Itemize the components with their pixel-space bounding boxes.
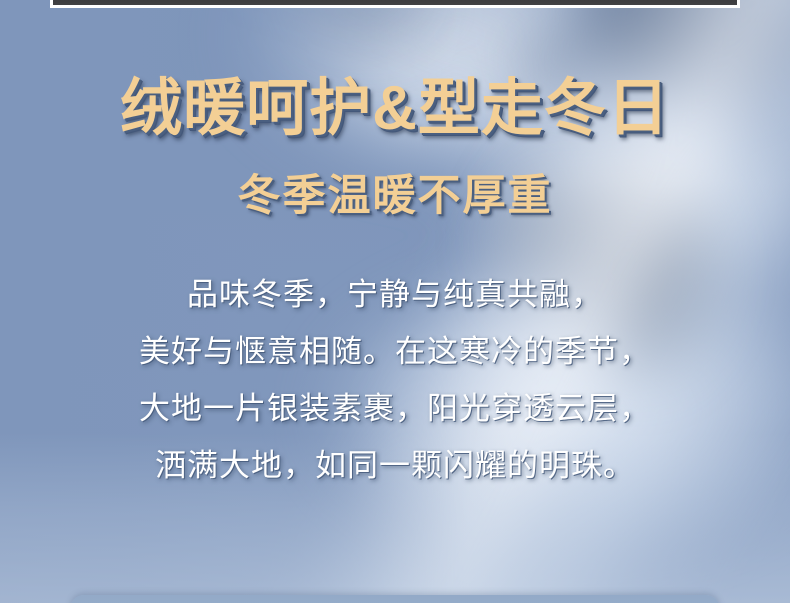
page-subtitle: 冬季温暖不厚重 <box>0 175 790 218</box>
page-title: 绒暖呵护&型走冬日 <box>0 78 790 140</box>
body-line: 大地一片银装素裹，阳光穿透云层， <box>0 380 790 437</box>
body-line: 洒满大地，如同一颗闪耀的明珠。 <box>0 437 790 494</box>
body-line: 美好与惬意相随。在这寒冷的季节， <box>0 323 790 380</box>
bottom-rounded-panel <box>70 595 720 603</box>
body-line: 品味冬季，宁静与纯真共融， <box>0 266 790 323</box>
banner-content: 绒暖呵护&型走冬日 冬季温暖不厚重 品味冬季，宁静与纯真共融， 美好与惬意相随。… <box>0 0 790 603</box>
body-copy: 品味冬季，宁静与纯真共融， 美好与惬意相随。在这寒冷的季节， 大地一片银装素裹，… <box>0 266 790 494</box>
promo-banner: 绒暖呵护&型走冬日 冬季温暖不厚重 品味冬季，宁静与纯真共融， 美好与惬意相随。… <box>0 0 790 603</box>
